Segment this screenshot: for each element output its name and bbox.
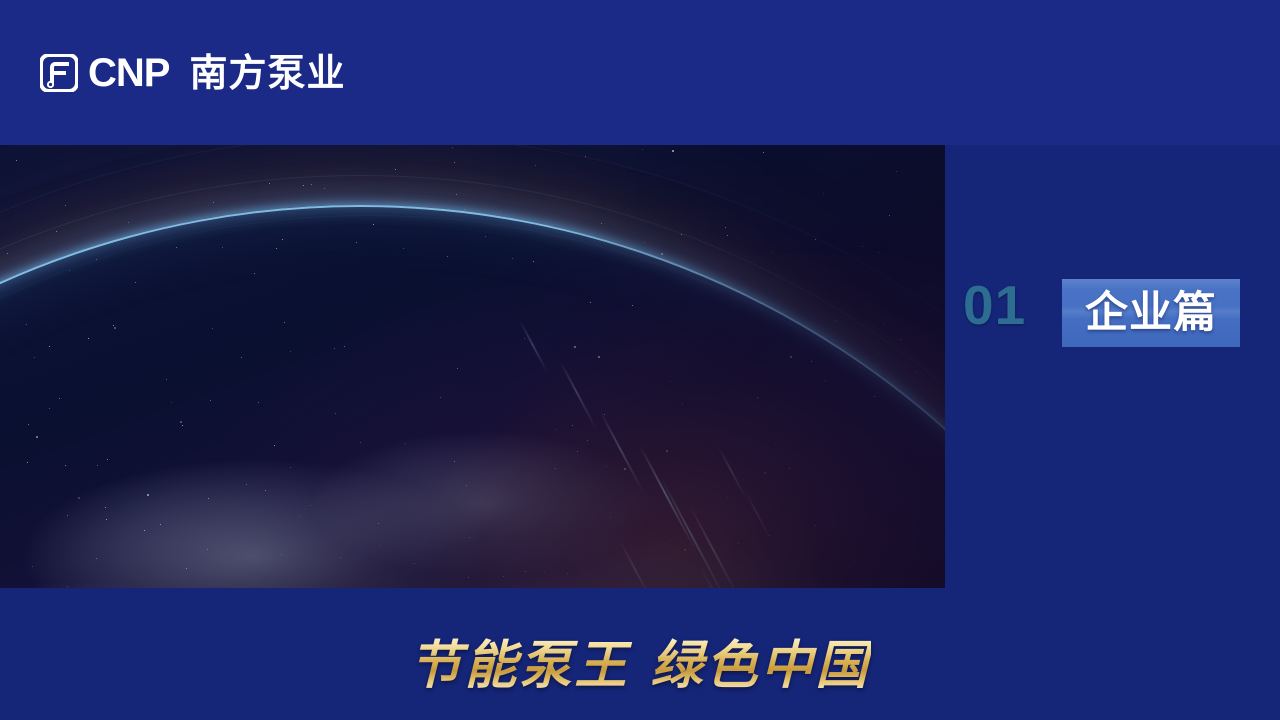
section-title-highlight-box: 企业篇 <box>1062 279 1240 347</box>
header-band: CNP 南方泵业 <box>0 0 1280 145</box>
earth-hero-image <box>0 145 945 588</box>
brand-logo-lockup[interactable]: CNP 南方泵业 <box>40 50 345 96</box>
logo-wordmark: CNP <box>88 53 169 93</box>
footer-slogan: 节能泵王 绿色中国 <box>0 636 1280 696</box>
section-title: 企业篇 <box>1085 290 1217 336</box>
cnp-logo-mark-icon <box>40 54 78 92</box>
footer-slogan-text: 节能泵王 绿色中国 <box>409 636 870 696</box>
presentation-slide: CNP 南方泵业 01 企业篇 节能泵王 绿色中国 <box>0 0 1280 720</box>
section-marker: 01 企业篇 <box>945 145 1280 588</box>
logo-company-name-cn: 南方泵业 <box>189 53 345 93</box>
section-number: 01 <box>963 278 1026 333</box>
